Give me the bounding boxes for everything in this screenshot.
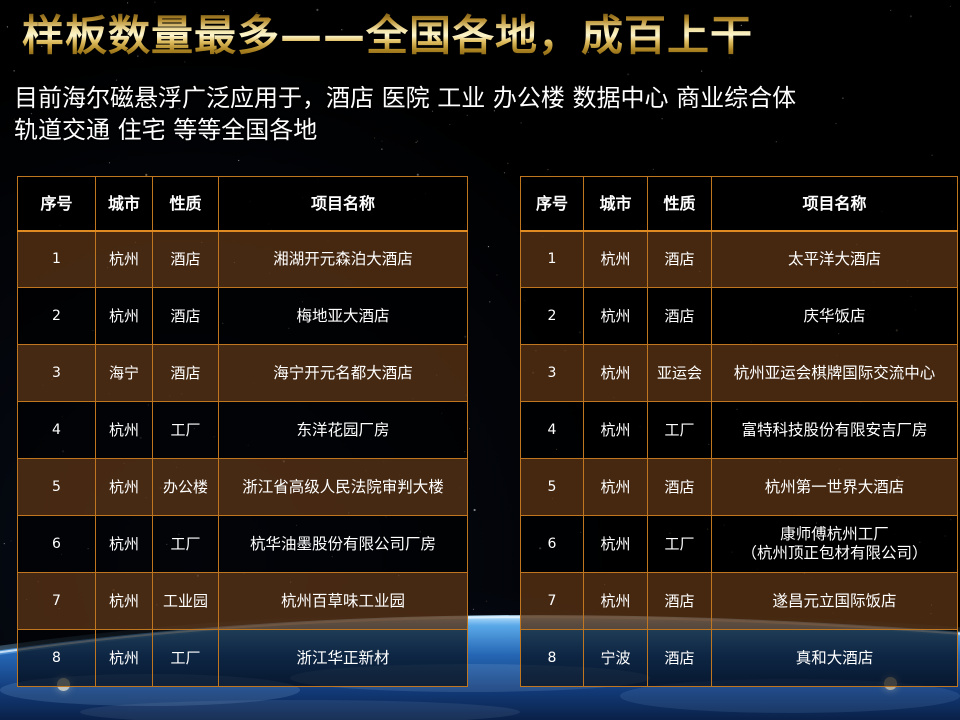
- table-body-right: 1杭州酒店太平洋大酒店2杭州酒店庆华饭店3杭州亚运会杭州亚运会棋牌国际交流中心4…: [521, 231, 958, 687]
- table-row: 3海宁酒店海宁开元名都大酒店: [18, 345, 468, 402]
- cell-city: 杭州: [96, 573, 153, 630]
- page-title: 样板数量最多——全国各地，成百上干: [22, 12, 753, 59]
- cell-city: 杭州: [584, 516, 648, 573]
- cell-type: 酒店: [153, 345, 219, 402]
- table-row: 6杭州工厂杭华油墨股份有限公司厂房: [18, 516, 468, 573]
- cell-no: 2: [18, 288, 96, 345]
- cell-city: 杭州: [96, 288, 153, 345]
- cell-project: 富特科技股份有限安吉厂房: [712, 402, 958, 459]
- cell-city: 杭州: [584, 231, 648, 288]
- cell-type: 酒店: [648, 630, 712, 687]
- table-body-left: 1杭州酒店湘湖开元森泊大酒店2杭州酒店梅地亚大酒店3海宁酒店海宁开元名都大酒店4…: [18, 231, 468, 687]
- cell-city: 杭州: [584, 573, 648, 630]
- table-row: 5杭州办公楼浙江省高级人民法院审判大楼: [18, 459, 468, 516]
- table-row: 4杭州工厂东洋花园厂房: [18, 402, 468, 459]
- table-row: 1杭州酒店太平洋大酒店: [521, 231, 958, 288]
- cell-type: 酒店: [648, 573, 712, 630]
- cell-city: 宁波: [584, 630, 648, 687]
- cell-no: 1: [18, 231, 96, 288]
- column-header-type: 性质: [648, 177, 712, 231]
- table-row: 8宁波酒店真和大酒店: [521, 630, 958, 687]
- cell-type: 酒店: [153, 288, 219, 345]
- cell-type: 亚运会: [648, 345, 712, 402]
- cell-project: 湘湖开元森泊大酒店: [219, 231, 468, 288]
- cell-type: 工厂: [648, 516, 712, 573]
- cell-city: 杭州: [584, 288, 648, 345]
- cell-city: 杭州: [96, 459, 153, 516]
- column-header-type: 性质: [153, 177, 219, 231]
- table-row: 2杭州酒店庆华饭店: [521, 288, 958, 345]
- cell-type: 办公楼: [153, 459, 219, 516]
- table-row: 7杭州酒店遂昌元立国际饭店: [521, 573, 958, 630]
- table-row: 8杭州工厂浙江华正新材: [18, 630, 468, 687]
- cell-no: 3: [18, 345, 96, 402]
- cell-type: 工厂: [153, 516, 219, 573]
- table-row: 6杭州工厂康师傅杭州工厂（杭州顶正包材有限公司）: [521, 516, 958, 573]
- cell-city: 杭州: [96, 231, 153, 288]
- cell-no: 6: [521, 516, 584, 573]
- cell-type: 酒店: [648, 288, 712, 345]
- cell-no: 4: [18, 402, 96, 459]
- cell-city: 杭州: [96, 516, 153, 573]
- column-header-no: 序号: [521, 177, 584, 231]
- cell-city: 杭州: [96, 402, 153, 459]
- cell-type: 酒店: [648, 459, 712, 516]
- cell-project: 庆华饭店: [712, 288, 958, 345]
- projects-table-left: 序号 城市 性质 项目名称 1杭州酒店湘湖开元森泊大酒店2杭州酒店梅地亚大酒店3…: [17, 176, 468, 687]
- cell-project: 康师傅杭州工厂（杭州顶正包材有限公司）: [712, 516, 958, 573]
- cell-project: 杭华油墨股份有限公司厂房: [219, 516, 468, 573]
- cell-no: 7: [18, 573, 96, 630]
- cell-city: 杭州: [96, 630, 153, 687]
- cell-project: 海宁开元名都大酒店: [219, 345, 468, 402]
- column-header-project: 项目名称: [219, 177, 468, 231]
- table-header-row: 序号 城市 性质 项目名称: [18, 177, 468, 231]
- cell-project: 遂昌元立国际饭店: [712, 573, 958, 630]
- column-header-no: 序号: [18, 177, 96, 231]
- table-row: 7杭州工业园杭州百草味工业园: [18, 573, 468, 630]
- cell-project: 真和大酒店: [712, 630, 958, 687]
- table-row: 4杭州工厂富特科技股份有限安吉厂房: [521, 402, 958, 459]
- table-row: 5杭州酒店杭州第一世界大酒店: [521, 459, 958, 516]
- cell-type: 工厂: [648, 402, 712, 459]
- cell-type: 工业园: [153, 573, 219, 630]
- table-row: 2杭州酒店梅地亚大酒店: [18, 288, 468, 345]
- cell-no: 6: [18, 516, 96, 573]
- projects-table-right: 序号 城市 性质 项目名称 1杭州酒店太平洋大酒店2杭州酒店庆华饭店3杭州亚运会…: [520, 176, 958, 687]
- cell-project: 浙江省高级人民法院审判大楼: [219, 459, 468, 516]
- cell-city: 海宁: [96, 345, 153, 402]
- page-subtitle: 目前海尔磁悬浮广泛应用于，酒店 医院 工业 办公楼 数据中心 商业综合体 轨道交…: [14, 82, 949, 146]
- table-row: 3杭州亚运会杭州亚运会棋牌国际交流中心: [521, 345, 958, 402]
- cell-project: 梅地亚大酒店: [219, 288, 468, 345]
- cell-no: 5: [18, 459, 96, 516]
- table-row: 1杭州酒店湘湖开元森泊大酒店: [18, 231, 468, 288]
- column-header-project: 项目名称: [712, 177, 958, 231]
- cell-project: 浙江华正新材: [219, 630, 468, 687]
- column-header-city: 城市: [584, 177, 648, 231]
- cell-no: 2: [521, 288, 584, 345]
- cell-no: 8: [18, 630, 96, 687]
- cell-type: 工厂: [153, 630, 219, 687]
- table-header-row: 序号 城市 性质 项目名称: [521, 177, 958, 231]
- cell-city: 杭州: [584, 402, 648, 459]
- cell-project: 太平洋大酒店: [712, 231, 958, 288]
- cell-no: 3: [521, 345, 584, 402]
- cell-type: 酒店: [153, 231, 219, 288]
- cell-type: 酒店: [648, 231, 712, 288]
- cell-city: 杭州: [584, 459, 648, 516]
- cell-no: 8: [521, 630, 584, 687]
- cell-city: 杭州: [584, 345, 648, 402]
- cell-type: 工厂: [153, 402, 219, 459]
- cell-project: 杭州亚运会棋牌国际交流中心: [712, 345, 958, 402]
- cell-no: 7: [521, 573, 584, 630]
- cell-project: 东洋花园厂房: [219, 402, 468, 459]
- cell-no: 5: [521, 459, 584, 516]
- cell-no: 4: [521, 402, 584, 459]
- column-header-city: 城市: [96, 177, 153, 231]
- cell-project: 杭州第一世界大酒店: [712, 459, 958, 516]
- cell-no: 1: [521, 231, 584, 288]
- cell-project: 杭州百草味工业园: [219, 573, 468, 630]
